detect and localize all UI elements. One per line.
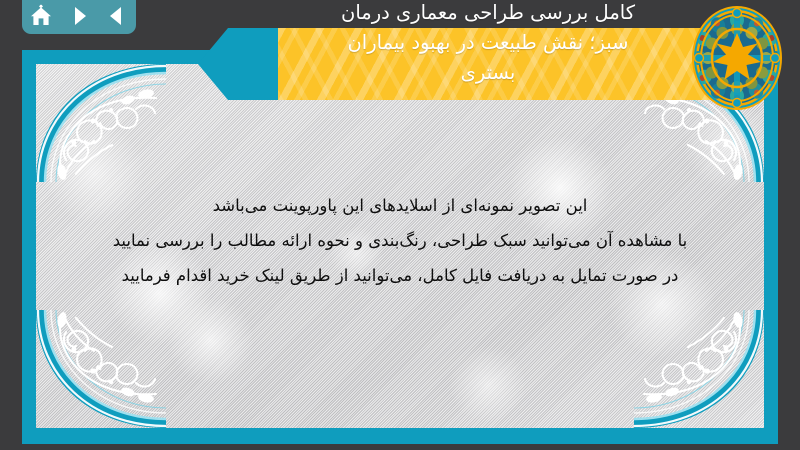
slide-title: کامل بررسی طراحی معماری درمان سبز؛ نقش ط… — [268, 0, 708, 88]
title-line-1: کامل بررسی طراحی معماری درمان — [268, 0, 708, 28]
slide-stage: این تصویر نمونه‌ای از اسلایدهای این پاور… — [0, 0, 800, 450]
persian-medallion-icon — [690, 4, 784, 112]
next-arrow-icon[interactable] — [66, 3, 92, 29]
body-line-2: با مشاهده آن می‌توانید سبک طراحی، رنگ‌بن… — [68, 223, 732, 258]
slide-frame: این تصویر نمونه‌ای از اسلایدهای این پاور… — [22, 50, 778, 444]
title-line-2: سبز؛ نقش طبیعت در بهبود بیماران — [268, 28, 708, 58]
slide-navigation-bar[interactable] — [22, 0, 136, 34]
slide-body-text: این تصویر نمونه‌ای از اسلایدهای این پاور… — [68, 188, 732, 293]
home-icon[interactable] — [28, 3, 54, 29]
prev-arrow-icon[interactable] — [104, 3, 130, 29]
body-line-1: این تصویر نمونه‌ای از اسلایدهای این پاور… — [68, 188, 732, 223]
title-line-3: بستری — [268, 58, 708, 88]
body-line-3: در صورت تمایل به دریافت فایل کامل، می‌تو… — [68, 258, 732, 293]
